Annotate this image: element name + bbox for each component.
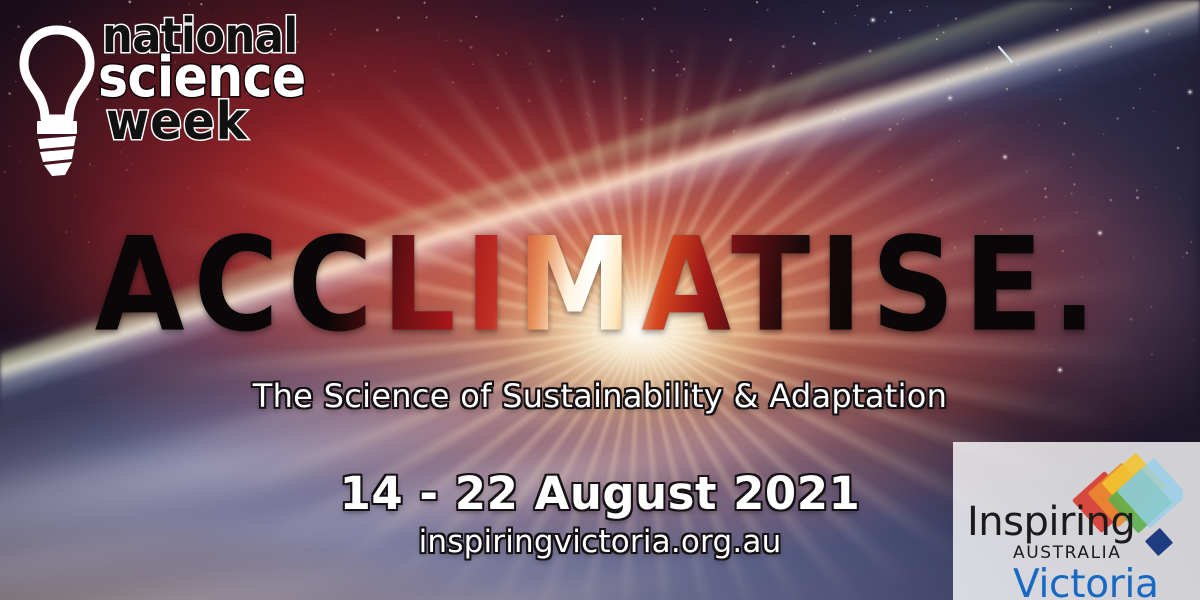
inspiring-australia-victoria-logo[interactable]: Inspiring AUSTRALIA Victoria — [953, 442, 1200, 600]
lightbulb-icon — [16, 18, 98, 178]
ia-word-australia: AUSTRALIA — [1013, 543, 1197, 563]
ia-word-victoria: Victoria — [1013, 565, 1197, 600]
promotional-banner: national science week ACCLIMATISE. The S… — [0, 0, 1200, 600]
ia-word-inspiring: Inspiring — [967, 502, 1197, 542]
subtitle: The Science of Sustainability & Adaptati… — [0, 377, 1200, 415]
ia-wordmark: Inspiring AUSTRALIA Victoria — [967, 502, 1197, 600]
nsw-wordmark: national science week — [100, 16, 300, 145]
national-science-week-logo[interactable]: national science week — [12, 12, 292, 182]
